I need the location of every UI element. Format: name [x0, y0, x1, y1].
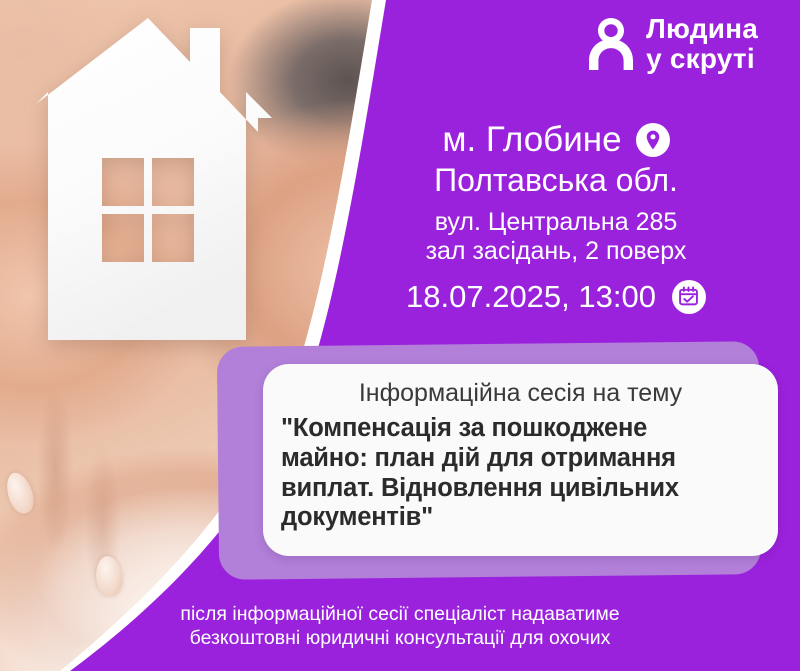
event-address-line1: вул. Центральна 285: [346, 208, 766, 238]
location-pin-icon: [636, 123, 670, 157]
footer-line1: після інформаційної сесії спеціаліст над…: [16, 602, 784, 627]
session-title-line: документів": [281, 503, 760, 533]
brand-logo: Людина у скруті: [588, 14, 758, 73]
session-title-line: виплат. Відновлення цивільних: [281, 474, 760, 504]
session-subtitle: Інформаційна сесія на тему: [281, 378, 760, 408]
event-region: Полтавська обл.: [346, 161, 766, 199]
session-title-line: майно: план дій для отримання: [281, 444, 760, 474]
datetime-row: 18.07.2025, 13:00: [346, 279, 766, 315]
event-city: м. Глобине: [442, 120, 621, 159]
city-row: м. Глобине: [346, 120, 766, 159]
fingernail: [187, 565, 216, 607]
event-datetime: 18.07.2025, 13:00: [406, 279, 656, 315]
session-title-line: "Компенсація за пошкоджене: [281, 414, 760, 444]
paper-house-cutout: [30, 10, 330, 340]
person-icon: [588, 16, 634, 72]
calendar-check-icon: [672, 280, 706, 314]
session-card: Інформаційна сесія на тему "Компенсація …: [263, 364, 778, 556]
event-info-block: м. Глобине Полтавська обл. вул. Централь…: [346, 120, 766, 315]
brand-logo-text: Людина у скруті: [646, 14, 758, 73]
brand-logo-line1: Людина: [646, 14, 758, 44]
event-address-line2: зал засідань, 2 поверх: [346, 237, 766, 267]
poster-root: Людина у скруті м. Глобине Полтавська об…: [0, 0, 800, 671]
session-title: "Компенсація за пошкоджене майно: план д…: [281, 414, 760, 533]
footer-note: після інформаційної сесії спеціаліст над…: [0, 602, 800, 651]
brand-logo-line2: у скруті: [646, 44, 758, 74]
footer-line2: безкоштовні юридичні консультації для ох…: [16, 626, 784, 651]
